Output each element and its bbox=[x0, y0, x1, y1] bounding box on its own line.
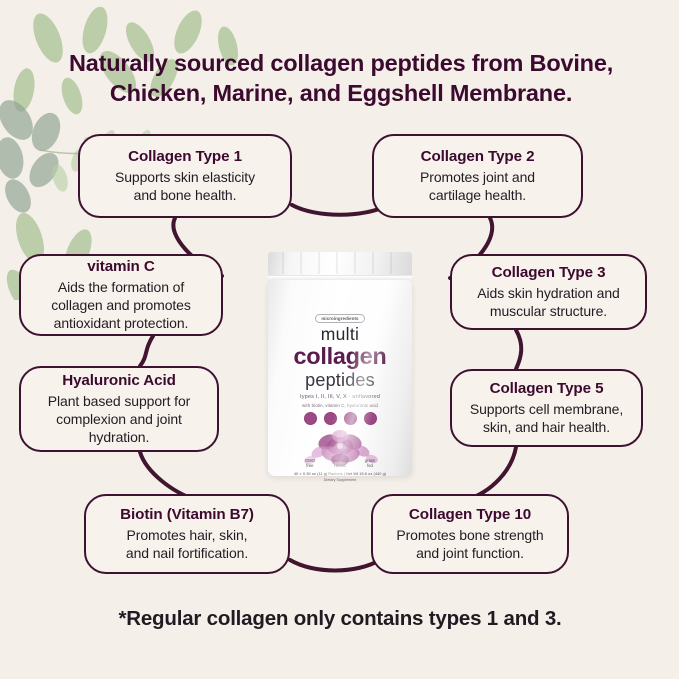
connector-type3-type5 bbox=[516, 330, 521, 369]
title-line-2: Chicken, Marine, and Eggshell Membrane. bbox=[46, 78, 636, 108]
callout-collagen-type-5[interactable]: Collagen Type 5 Supports cell membrane, … bbox=[450, 369, 643, 447]
callout-collagen-type-10[interactable]: Collagen Type 10 Promotes bone strength … bbox=[371, 494, 569, 574]
connector-vitc-ha bbox=[140, 336, 153, 366]
product-net-weight: 40 × 0.39 oz (11 g) Packets | Net Wt 15.… bbox=[268, 471, 412, 476]
callout-desc-line-1: Promotes bone strength bbox=[381, 526, 559, 544]
connector-top bbox=[292, 205, 388, 215]
badge-gmo-free: GMO free bbox=[305, 458, 315, 468]
callout-hyaluronic-acid[interactable]: Hyaluronic Acid Plant based support for … bbox=[19, 366, 219, 452]
connector-bottom bbox=[290, 560, 380, 571]
skin-icon bbox=[304, 412, 317, 425]
callout-collagen-type-2[interactable]: Collagen Type 2 Promotes joint and carti… bbox=[372, 134, 583, 218]
nail-icon bbox=[364, 412, 377, 425]
callout-desc-line-2: collagen and promotes bbox=[29, 296, 213, 314]
pouch-body: microingredients multi collagen peptides… bbox=[262, 250, 418, 478]
callout-vitamin-c[interactable]: vitamin C Aids the formation of collagen… bbox=[19, 254, 223, 336]
joint-icon bbox=[324, 412, 337, 425]
callout-title: Collagen Type 10 bbox=[381, 505, 559, 524]
callout-title: Collagen Type 1 bbox=[88, 147, 282, 166]
callout-desc-line-2: and joint function. bbox=[381, 544, 559, 562]
product-pouch: microingredients multi collagen peptides… bbox=[262, 250, 418, 478]
infographic-canvas: Naturally sourced collagen peptides from… bbox=[0, 0, 679, 679]
callout-desc-line-2: skin, and hair health. bbox=[460, 418, 633, 436]
callout-title: Biotin (Vitamin B7) bbox=[94, 505, 280, 524]
hair-icon bbox=[344, 412, 357, 425]
callout-desc-line-1: Supports skin elasticity bbox=[88, 168, 282, 186]
connector-type5-type10 bbox=[466, 447, 516, 500]
callout-desc-line-2: complexion and joint bbox=[29, 410, 209, 428]
product-name-line-2: collagen bbox=[268, 343, 412, 370]
pouch-front-panel: microingredients multi collagen peptides… bbox=[268, 280, 412, 476]
brand-name: microingredients bbox=[315, 314, 364, 324]
callout-title: Collagen Type 3 bbox=[460, 263, 637, 282]
callout-biotin[interactable]: Biotin (Vitamin B7) Promotes hair, skin,… bbox=[84, 494, 290, 574]
callout-desc-line-1: Plant based support for bbox=[29, 392, 209, 410]
callout-desc-line-1: Promotes joint and bbox=[382, 168, 573, 186]
callout-desc-line-2: and nail fortification. bbox=[94, 544, 280, 562]
product-with-line: with biotin, vitamin C, hyaluronic acid bbox=[268, 403, 412, 408]
product-types-line: types I, II, III, V, X · unflavored bbox=[268, 394, 412, 400]
callout-desc-line-2: cartilage health. bbox=[382, 186, 573, 204]
title-line-1: Naturally sourced collagen peptides from… bbox=[69, 50, 613, 76]
callout-title: Collagen Type 5 bbox=[460, 379, 633, 398]
product-supplement-line: Dietary Supplement bbox=[268, 478, 412, 482]
product-benefit-icons bbox=[268, 412, 412, 425]
badge-grass-fed: grass fed bbox=[365, 458, 375, 468]
callout-desc-line-2: and bone health. bbox=[88, 186, 282, 204]
callout-desc-line-1: Promotes hair, skin, bbox=[94, 526, 280, 544]
product-name-line-1: multi bbox=[268, 324, 412, 345]
callout-desc-line-1: Aids skin hydration and bbox=[460, 284, 637, 302]
callout-desc-line-2: muscular structure. bbox=[460, 302, 637, 320]
callout-collagen-type-1[interactable]: Collagen Type 1 Supports skin elasticity… bbox=[78, 134, 292, 218]
product-name-line-3: peptides bbox=[268, 370, 412, 391]
connector-ha-biotin bbox=[140, 452, 196, 500]
callout-desc-line-3: antioxidant protection. bbox=[29, 314, 213, 332]
callout-desc-line-3: hydration. bbox=[29, 428, 209, 446]
callout-title: vitamin C bbox=[29, 257, 213, 276]
callout-desc-line-1: Supports cell membrane, bbox=[460, 400, 633, 418]
callout-desc-line-1: Aids the formation of bbox=[29, 278, 213, 296]
page-title: Naturally sourced collagen peptides from… bbox=[46, 48, 636, 108]
product-badges: GMO free pasture raised grass fed bbox=[268, 458, 412, 468]
callout-collagen-type-3[interactable]: Collagen Type 3 Aids skin hydration and … bbox=[450, 254, 647, 330]
callout-title: Hyaluronic Acid bbox=[29, 371, 209, 390]
brand-logo: microingredients bbox=[268, 307, 412, 325]
badge-pasture-raised: pasture raised bbox=[333, 458, 347, 468]
callout-title: Collagen Type 2 bbox=[382, 147, 573, 166]
footnote: *Regular collagen only contains types 1 … bbox=[40, 606, 640, 632]
pouch-label: microingredients multi collagen peptides… bbox=[268, 280, 412, 476]
